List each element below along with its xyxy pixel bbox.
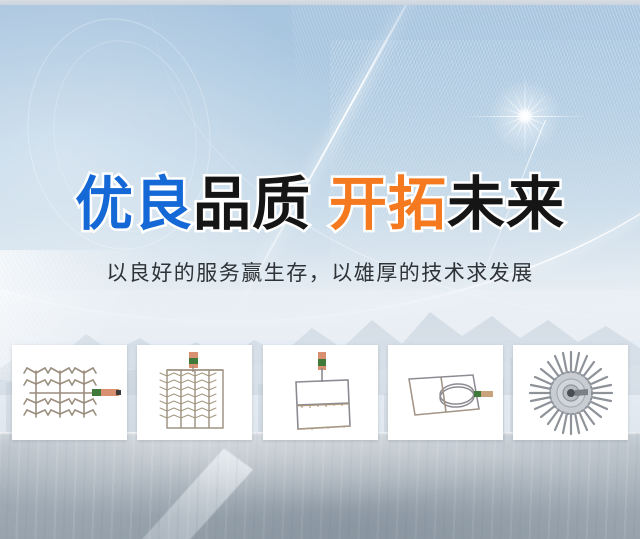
product-card-list bbox=[12, 345, 628, 443]
product-card-2[interactable] bbox=[137, 345, 252, 440]
two-tier-frame-rack-icon bbox=[280, 350, 360, 436]
product-card-5[interactable] bbox=[513, 345, 628, 440]
page-subtitle: 以良好的服务赢生存，以雄厚的技术求发展 bbox=[0, 258, 640, 288]
radial-sunburst-wheel-icon bbox=[526, 349, 616, 437]
dense-spike-rack-icon bbox=[153, 350, 237, 436]
flat-frame-ring-rack-icon bbox=[395, 357, 495, 429]
page-title: 优良品质开拓未来 bbox=[0, 168, 640, 240]
headline-part-4: 未来 bbox=[447, 170, 565, 238]
product-card-3[interactable] bbox=[263, 345, 378, 440]
product-card-1[interactable] bbox=[12, 345, 127, 440]
concrete-floor bbox=[0, 432, 640, 539]
headline-part-1: 优良 bbox=[75, 170, 193, 238]
top-edge-strip bbox=[0, 0, 640, 5]
headline-part-2: 品质 bbox=[193, 170, 311, 238]
promo-banner: 优良品质开拓未来 以良好的服务赢生存，以雄厚的技术求发展 bbox=[0, 0, 640, 539]
headline-part-3: 开拓 bbox=[329, 170, 447, 238]
branched-hanging-rack-icon bbox=[18, 351, 122, 435]
product-card-4[interactable] bbox=[388, 345, 503, 440]
